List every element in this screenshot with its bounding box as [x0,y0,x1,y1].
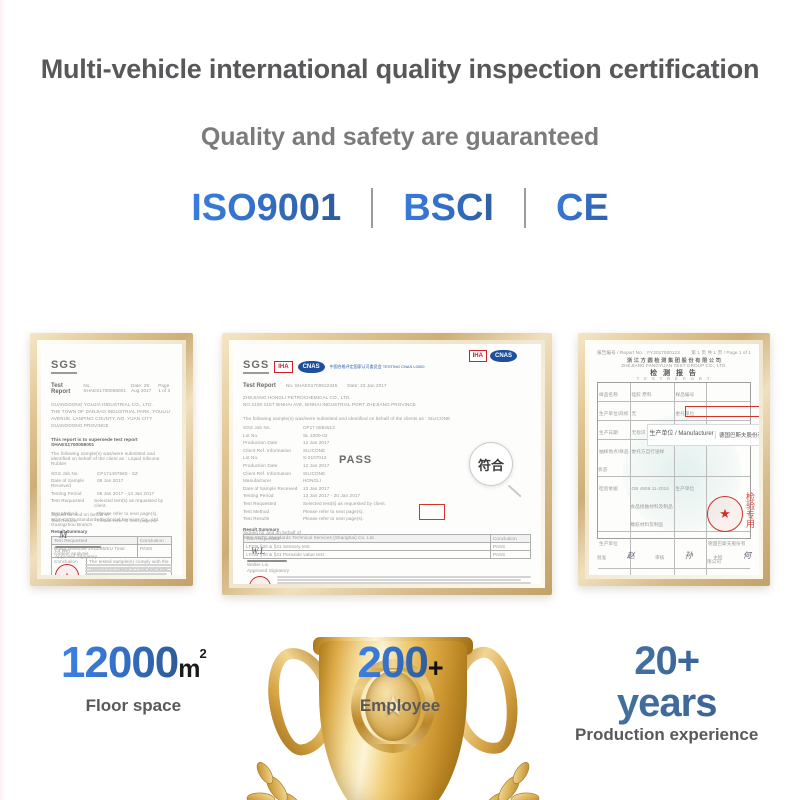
vertical-red-stamp-right: 检验专用 [744,492,755,528]
field-value: CP171487560 - SZ [97,471,138,476]
doc-meta-page-left: Page 1 of 3 [158,383,172,393]
field-label: Production Date [243,440,303,445]
row-value: GB 4806.11-2016 食品接触材料及制品 橡胶材料及制品 [631,486,673,527]
meta-left-right: 报告编号 / Report No. : FY2017000123 [597,350,680,356]
table-row: LFGB §30 & §31 Sensory test PASS [244,543,530,551]
stat-employee: 200+ Employee [267,640,534,770]
stat-value: 20+ [634,639,699,683]
field-label: Test Method [243,509,303,514]
description-left: The following sample(s) was/were submitt… [51,451,172,466]
table-row: 样品名称 硅胶 原料 样品编号 [598,383,750,402]
signature-label: 主检 [713,555,722,561]
field-label: Client Ref. Information [243,448,303,453]
field-value: Selected test(s) as requested by client. [303,501,386,506]
row-label-cn: 生产单位/商标 [598,411,629,416]
row-label-cn: 生产日期 [598,430,618,435]
field-label: Lot No. [243,455,303,460]
table-row: LFGB §30 & §31 Peroxide value test PASS [244,551,530,558]
field-value: S-2107013 [303,455,326,460]
sgs-logo-left: SGS [51,359,77,374]
certification-badges-row: ISO9001 BSCI CE [0,188,800,228]
certificate-paper-left: SGS Test Report No. SHAES1700058001 Date… [41,344,182,575]
signature-center: W.L [251,546,265,556]
doc-title-left: Test Report [51,383,70,395]
stat-value: 12000 [61,638,178,687]
doc-meta-date-left: Date: 25 Aug 2017 [131,383,153,393]
field-label: Manufacturer [243,478,303,483]
field-value: 08 Jan 2017 - 13 Jan 2017 [97,491,154,496]
certificate-paper-center: SGS IHA CNAS 中国合格评定国家认可委员会 TESTING CNAS … [233,344,541,584]
red-star-seal-right: ★ [707,496,743,532]
field-value: 08 Jan 2017 [97,478,123,488]
frame-bevel-center: SGS IHA CNAS 中国合格评定国家认可委员会 TESTING CNAS … [229,340,545,588]
field-label: Date of Sample Received [243,486,303,491]
row-label2 [675,449,676,454]
signature-name-left: Lu Wei [55,548,70,553]
signature-role-left: Approved Signatory [55,554,97,559]
manufacturer-callout-value: 德国巴斯夫股份有限公司 [715,431,759,439]
manufacturer-callout-label: 生产单位 / Manufacturer [648,431,715,439]
row-value: 委托方自行送样 [631,449,665,454]
field-label: Production Date [243,463,303,468]
stat-value: 200 [357,638,427,687]
cert-label-bsci: BSCI [373,189,524,227]
stat-label: Floor space [0,696,267,716]
table-row: 抽样日期 无 样品数量 [598,569,750,575]
statement-left: This report is to supersede test report … [51,438,172,448]
certificate-frame-left: SGS Test Report No. SHAES1700058001 Date… [30,333,193,586]
row-label2: 样品编号 [675,392,695,397]
field-value: 13 Jan 2017 [303,486,329,491]
table-cell: PASS [490,551,530,558]
signatures-row-right: 批准 赵 审核 孙 主检 何 [597,550,751,561]
signed-line2-center: SGS-CSTC Standards Technical Services (S… [243,535,375,540]
row-value: 无标识 [631,430,646,435]
stat-value-wrap: 200+ [267,640,534,686]
result-summary-label-left: Result Summary [51,529,172,534]
stat-unit: m2 [178,655,205,683]
signature-left: M [59,530,67,541]
row-label-cn: 生产单位 [598,541,618,546]
certificates-strip: SGS Test Report No. SHAES1700058001 Date… [0,333,800,613]
company-left: GUANGDONG YOUJIA INDUSTRIAL CO., LTD. [51,402,172,407]
certification-banner: Multi-vehicle international quality insp… [0,0,800,800]
meta-right-right: 第 1 页 共 1 页 / Page 1 of 1 [691,350,751,356]
stat-value-line2: years [617,681,717,725]
field-value: 13 Jan 2017 - 20 Jan 2017 [303,493,360,498]
stat-label: Production experience [533,725,800,745]
doc-meta-date-center: Date: 23 Jan 2017 [347,383,386,388]
certificate-left-content: SGS Test Report No. SHAES1700058001 Date… [41,344,182,575]
signed-line2-left: SGS-CSTC Standards Technical Services Co… [51,517,182,527]
stats-row: 12000m2 Floor space 200+ Employee 20+ ye… [0,640,800,770]
doc-meta-no-left: No. SHAES1700058001 [83,383,126,393]
frame-bevel-right: 报告编号 / Report No. : FY2017000123 第 1 页 共… [585,340,763,579]
cnas-badge-center-2: CNAS [490,350,517,362]
cert-label-ce: CE [526,189,639,227]
row-label2: 生产单位 [675,486,695,491]
address-left: THE TOWN OF DANJIAO INDUSTRIAL PARK, YOU… [51,409,172,430]
field-value: Please refer to next page(s). [303,516,364,521]
description-center: The following sample(s) was/were submitt… [243,416,531,421]
address-center: NO.2108 21ST BINHAI AVE, BINHAI INDUSTRI… [243,402,531,407]
page-title: Multi-vehicle international quality insp… [0,52,800,87]
stat-unit-superscript: 2 [200,646,206,661]
sgs-logo-center: SGS [243,359,269,374]
field-label: SGS Job No. [51,471,97,476]
field-value: SL 1000-02 [303,433,328,438]
iha-cnas-badges-right-center: IHA CNAS [469,350,517,362]
page-subtitle: Quality and safety are guaranteed [0,123,800,152]
table-cell: LFGB §30 & §31 Sensory test [244,543,490,550]
row-value: 无 [631,411,637,416]
field-value: SILICONE [303,448,325,453]
stat-suffix: + [428,653,443,683]
field-value: Please refer to next page(s). [303,509,364,514]
doc-meta-no-center: No. SHAES1700622345 [286,383,337,388]
field-label: Lot No. [243,433,303,438]
certificate-paper-right: 报告编号 / Report No. : FY2017000123 第 1 页 共… [589,344,759,575]
row-value: 硅胶 原料 [631,392,652,397]
field-label: Testing Period [243,493,303,498]
table-header: Conclusion [137,537,171,544]
table-header: Conclusion [490,535,530,542]
stat-value-wrap: 12000m2 [0,640,267,686]
field-label: Client Ref. Information [243,471,303,476]
table-cell: LFGB §30 & §31 Peroxide value test [244,551,490,558]
red-seal-center [249,576,271,584]
company-center: ZHEJIANG HONGLI PETROCHEMICAL CO., LTD. [243,395,531,400]
signature-mark: 何 [743,550,751,561]
row-label-cn: 抽样地点/样品状态 [598,449,629,472]
stat-label: Employee [267,696,534,716]
field-value: CP17 0084512 [303,425,335,430]
star-icon: ★ [719,506,731,522]
magnifier-text: 符合 [478,455,504,474]
signature-label: 审核 [655,555,664,561]
cnas-badge-center: CNAS [298,361,325,373]
stat-experience: 20+ years Production experience [533,640,800,770]
field-value: 12 Jan 2017 [303,440,329,445]
field-label: Testing Period [51,491,97,496]
manufacturer-callout-right: 生产单位 / Manufacturer 德国巴斯夫股份有限公司 [647,424,759,446]
signature-label: 批准 [597,555,606,561]
stat-floor-space: 12000m2 Floor space [0,640,267,770]
signature-mark: 孙 [685,550,693,561]
header-block: Multi-vehicle international quality insp… [0,0,800,228]
field-value: HONGLI [303,478,321,483]
highlight-redbox-right [685,406,759,417]
field-label: Test Results [243,516,303,521]
frame-bevel-left: SGS Test Report No. SHAES1700058001 Date… [37,340,186,579]
stat-value-wrap: 20+ years [533,640,800,724]
field-value: SILICONE [303,471,325,476]
field-value: 12 Jan 2017 [303,463,329,468]
iha-badge-center-2: IHA [469,350,487,362]
signature-name-center: Walter Liu [247,562,269,567]
pass-watermark-center: PASS [339,454,372,466]
field-label: Date of Sample Received [51,478,97,488]
magnifier-compliance-center: 符合 [469,442,513,486]
red-seal-left [55,564,79,575]
iha-badge-center: IHA [274,361,292,373]
certificate-frame-right: 报告编号 / Report No. : FY2017000123 第 1 页 共… [578,333,770,586]
signature-mark: 赵 [627,550,635,561]
cnas-cn-text-center: 中国合格评定国家认可委员会 TESTING CNAS L0000 [330,364,425,369]
highlight-redbox-center [419,504,445,520]
row-label-cn: 检验依据 [598,486,618,491]
doc-title-en-right: T E S T R E P O R T [589,376,759,381]
certificate-frame-center: SGS IHA CNAS 中国合格评定国家认可委员会 TESTING CNAS … [222,333,552,595]
doc-title-center: Test Report [243,383,276,389]
table-cell: PASS [490,543,530,550]
field-value: Selected test(s) as requested by client. [94,498,172,508]
signature-role-center: Approved Signatory [247,568,289,573]
row-label-cn: 样品名称 [598,392,618,397]
table-cell: PASS [137,545,171,557]
field-label: Test Requested [243,501,303,506]
cert-label-iso9001: ISO9001 [161,189,371,227]
field-label: SGS Job No. [243,425,303,430]
field-label: Test Requested [51,498,94,508]
